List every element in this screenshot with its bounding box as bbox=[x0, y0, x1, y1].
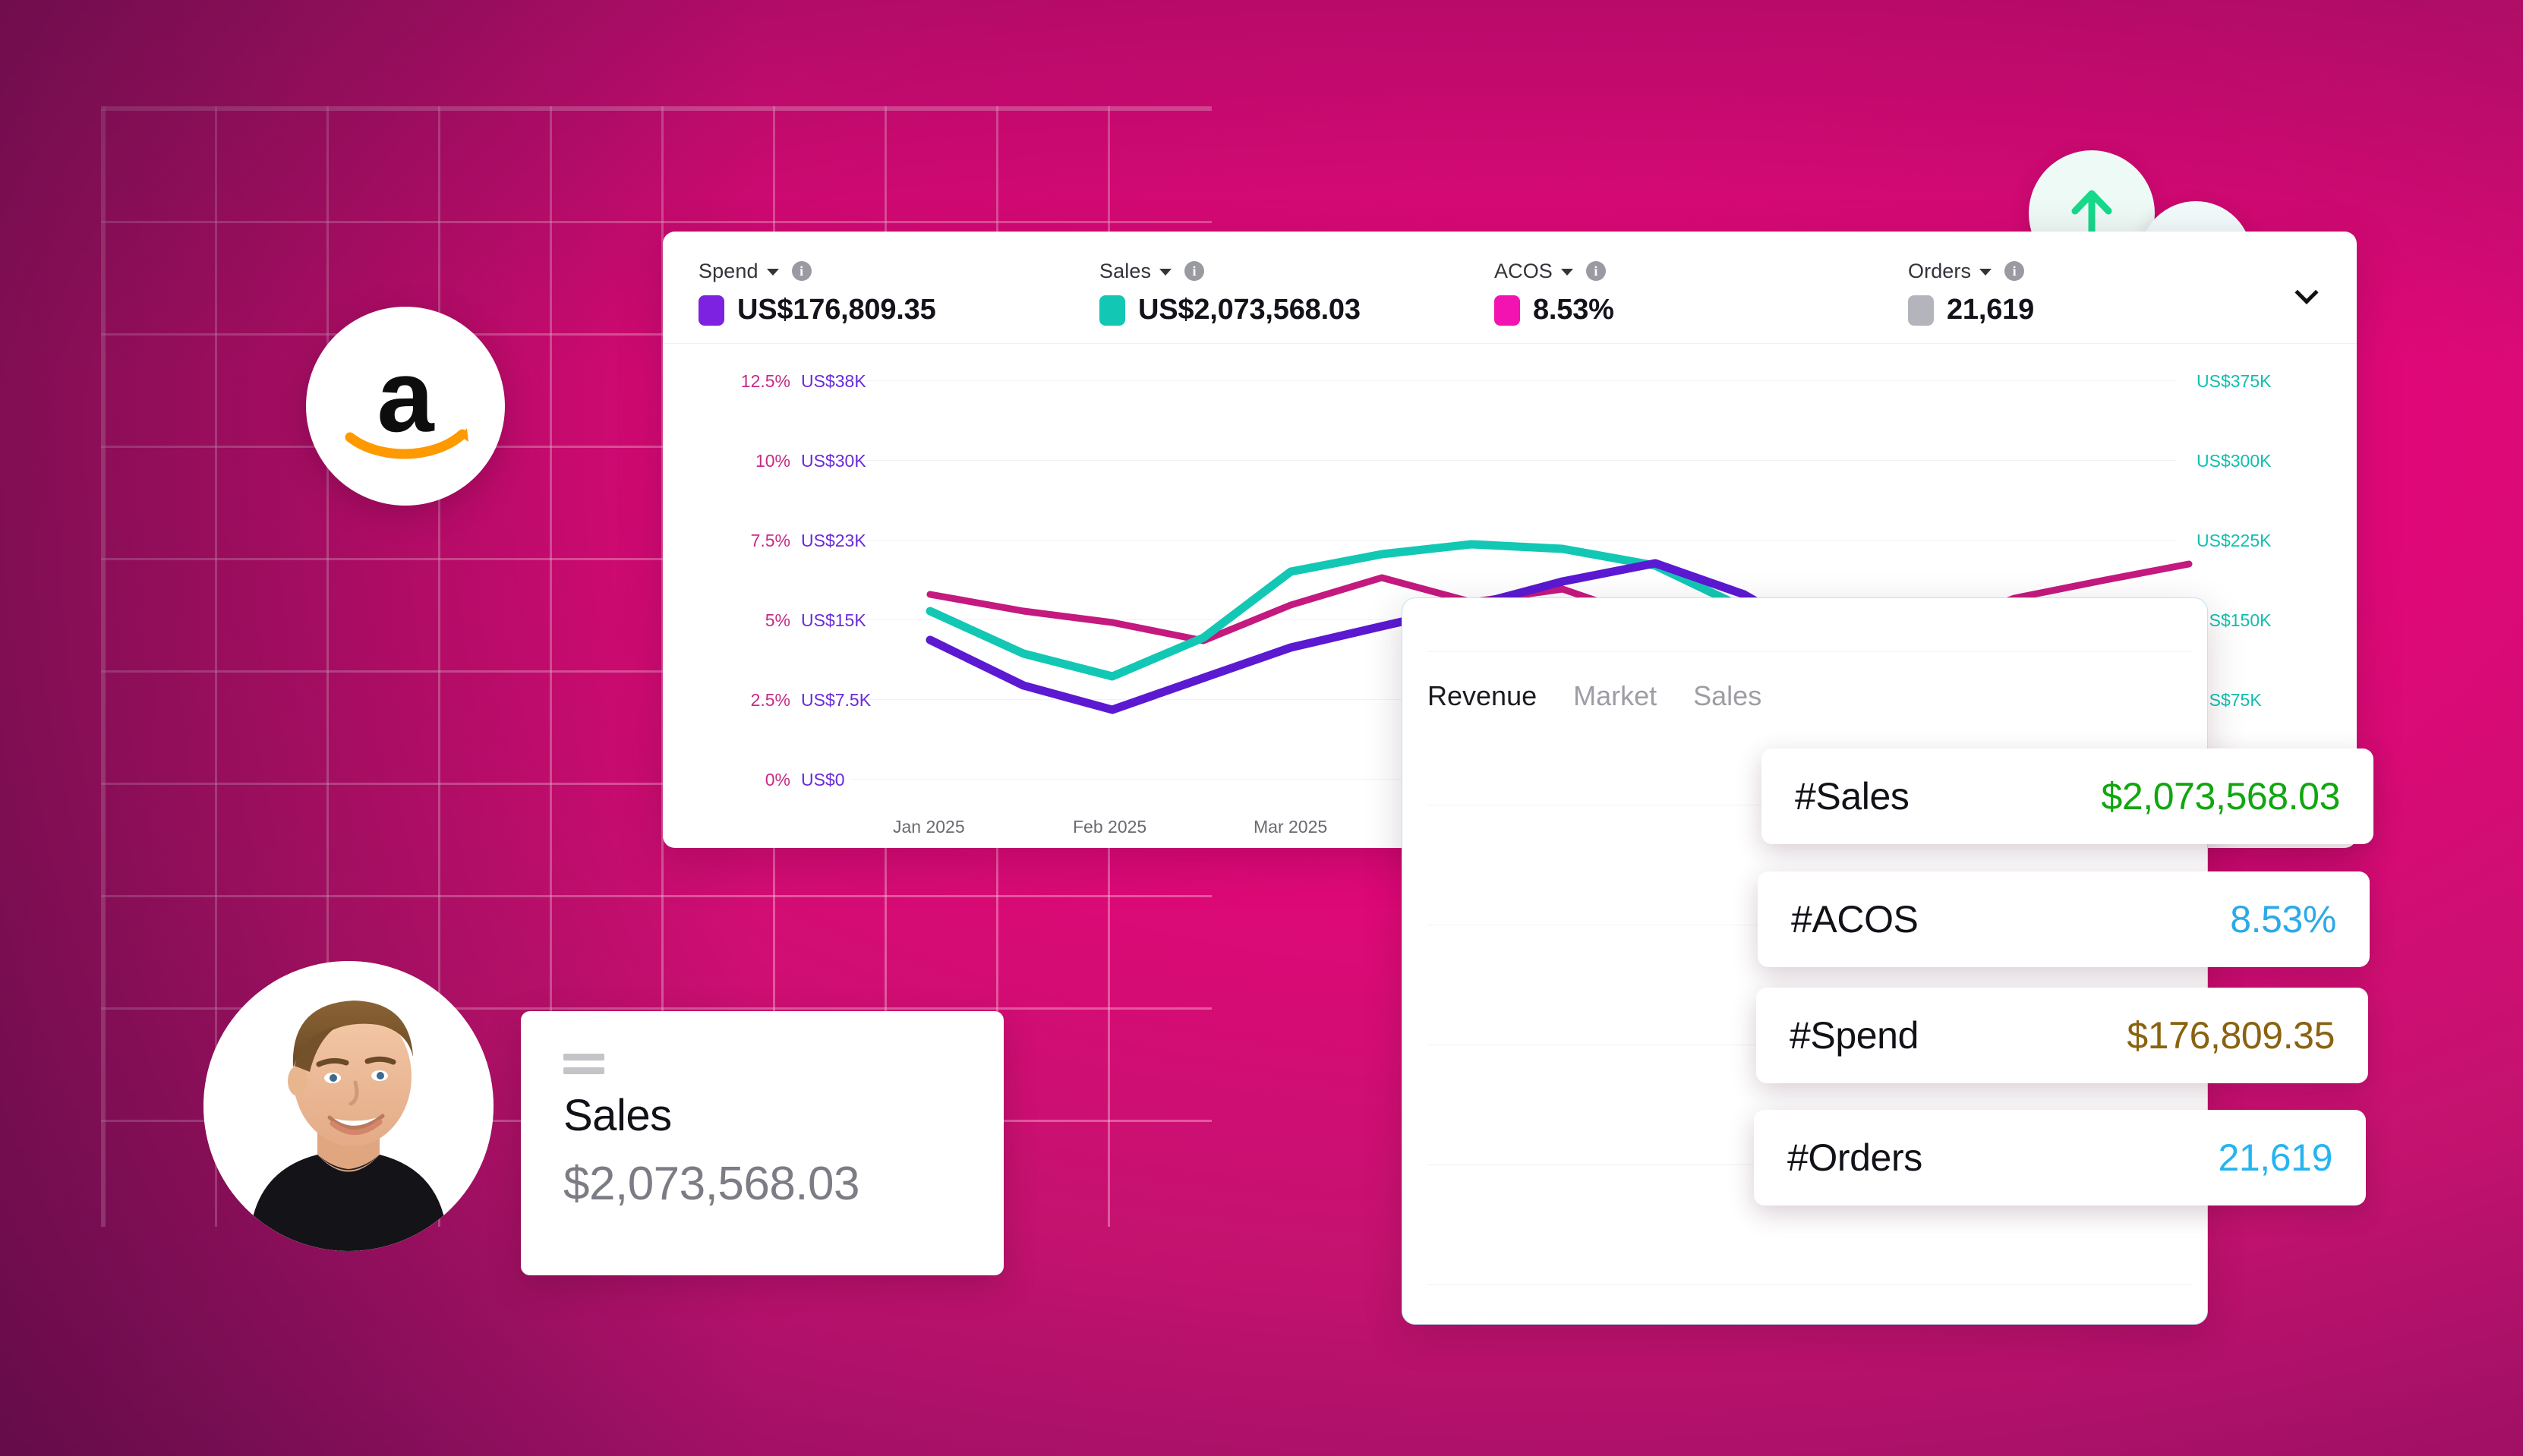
metrics-summary-row: Spend i US$176,809.35 Sales i US$2,07 bbox=[663, 232, 2357, 344]
metric-spend-value: US$176,809.35 bbox=[737, 294, 936, 326]
sales-card-title: Sales bbox=[563, 1090, 672, 1141]
metric-acos-value: 8.53% bbox=[1533, 294, 1614, 326]
metric-acos-value-row: 8.53% bbox=[1494, 294, 1614, 326]
list-item[interactable]: #Orders 21,619 bbox=[1754, 1110, 2366, 1205]
list-item-value: $176,809.35 bbox=[2127, 1013, 2335, 1057]
list-item-label: #Sales bbox=[1795, 774, 1909, 818]
sales-card-value: $2,073,568.03 bbox=[563, 1157, 859, 1211]
metric-acos-color-swatch bbox=[1494, 295, 1520, 326]
metric-orders-header[interactable]: Orders i bbox=[1908, 260, 2034, 282]
chevron-down-icon bbox=[2294, 281, 2318, 304]
metric-sales-value-row: US$2,073,568.03 bbox=[1099, 294, 1361, 326]
metric-sales-label: Sales bbox=[1099, 260, 1151, 283]
tab-market[interactable]: Market bbox=[1573, 680, 1657, 712]
chevron-down-icon[interactable] bbox=[767, 269, 779, 276]
metric-spend[interactable]: Spend i US$176,809.35 bbox=[699, 260, 936, 326]
amazon-logo-icon: a bbox=[333, 349, 478, 463]
list-item-label: #Spend bbox=[1790, 1013, 1919, 1057]
metric-orders-value-row: 21,619 bbox=[1908, 294, 2034, 326]
info-icon[interactable]: i bbox=[1184, 261, 1204, 281]
metric-acos-label: ACOS bbox=[1494, 260, 1553, 283]
info-icon[interactable]: i bbox=[1586, 261, 1606, 281]
screenshot-stage: a Spend i US$1 bbox=[0, 0, 2523, 1456]
metric-orders[interactable]: Orders i 21,619 bbox=[1908, 260, 2034, 326]
metric-sales[interactable]: Sales i US$2,073,568.03 bbox=[1099, 260, 1361, 326]
user-portrait-icon bbox=[203, 961, 494, 1251]
metric-spend-label: Spend bbox=[699, 260, 758, 283]
list-item-label: #Orders bbox=[1787, 1136, 1922, 1180]
amazon-logo-badge: a bbox=[306, 307, 505, 506]
list-item-value: 21,619 bbox=[2218, 1136, 2332, 1180]
list-item[interactable]: #Spend $176,809.35 bbox=[1756, 988, 2368, 1083]
info-icon[interactable]: i bbox=[792, 261, 812, 281]
list-item[interactable]: #Sales $2,073,568.03 bbox=[1761, 748, 2373, 844]
metric-orders-color-swatch bbox=[1908, 295, 1934, 326]
metric-orders-label: Orders bbox=[1908, 260, 1971, 283]
chevron-down-icon[interactable] bbox=[1159, 269, 1172, 276]
list-item-value: $2,073,568.03 bbox=[2101, 774, 2340, 818]
tab-sales[interactable]: Sales bbox=[1693, 680, 1761, 712]
metric-acos[interactable]: ACOS i 8.53% bbox=[1494, 260, 1614, 326]
metric-spend-color-swatch bbox=[699, 295, 724, 326]
chevron-down-icon[interactable] bbox=[1979, 269, 1992, 276]
chevron-down-icon[interactable] bbox=[1561, 269, 1573, 276]
list-item[interactable]: #ACOS 8.53% bbox=[1758, 871, 2370, 967]
svg-text:a: a bbox=[377, 349, 434, 453]
metric-sales-header[interactable]: Sales i bbox=[1099, 260, 1361, 282]
card-divider bbox=[1427, 651, 2192, 652]
hamburger-icon[interactable] bbox=[563, 1054, 604, 1081]
metric-spend-header[interactable]: Spend i bbox=[699, 260, 936, 282]
metric-sales-color-swatch bbox=[1099, 295, 1125, 326]
metric-orders-value: 21,619 bbox=[1947, 294, 2034, 326]
list-item-label: #ACOS bbox=[1791, 897, 1919, 941]
sales-summary-card: Sales $2,073,568.03 bbox=[521, 1011, 1004, 1275]
metric-spend-value-row: US$176,809.35 bbox=[699, 294, 936, 326]
revenue-tabs: Revenue Market Sales bbox=[1427, 680, 1761, 712]
card-divider bbox=[1427, 1284, 2192, 1285]
list-item-value: 8.53% bbox=[2230, 897, 2336, 941]
metric-acos-header[interactable]: ACOS i bbox=[1494, 260, 1614, 282]
tab-revenue[interactable]: Revenue bbox=[1427, 680, 1537, 712]
avatar bbox=[203, 961, 494, 1251]
metric-sales-value: US$2,073,568.03 bbox=[1138, 294, 1361, 326]
info-icon[interactable]: i bbox=[2004, 261, 2024, 281]
panel-collapse-button[interactable] bbox=[2288, 279, 2325, 315]
